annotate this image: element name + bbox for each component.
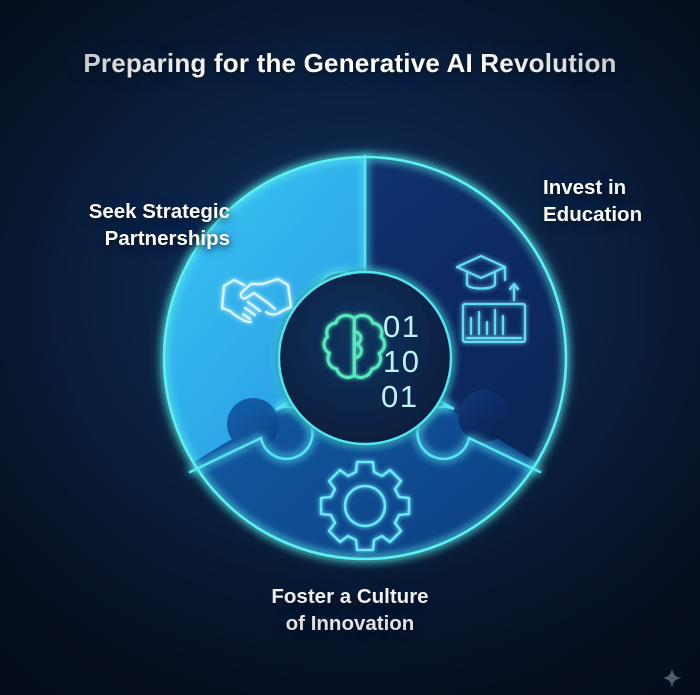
binary-digits: 01 10 01 — [381, 309, 420, 414]
label-foster-culture-innovation: Foster a Culture of Innovation — [200, 583, 500, 637]
puzzle-tab-lower-right — [458, 390, 510, 442]
binary-line-3: 01 — [381, 379, 418, 414]
sparkle-icon — [660, 666, 684, 690]
binary-line-2: 10 — [383, 344, 420, 379]
label-seek-strategic-partnerships: Seek Strategic Partnerships — [10, 198, 230, 252]
page-title: Preparing for the Generative AI Revoluti… — [0, 48, 700, 79]
hub-circle[interactable] — [279, 272, 451, 444]
label-invest-in-education: Invest in Education — [543, 174, 698, 228]
infographic-canvas: Preparing for the Generative AI Revoluti… — [0, 0, 700, 695]
binary-line-1: 01 — [383, 309, 420, 344]
